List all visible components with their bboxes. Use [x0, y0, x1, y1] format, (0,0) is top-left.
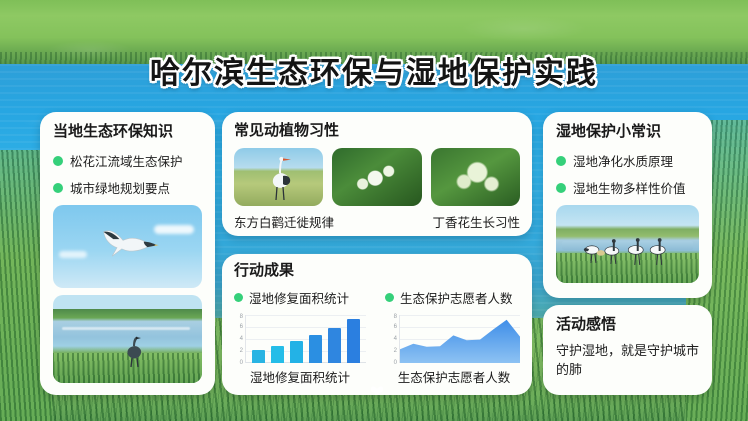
species-photo-row	[234, 148, 520, 206]
wading-bird-icon	[122, 334, 148, 368]
card-action-results: 行动成果 湿地修复面积统计 生态保护志愿者人数 0 2 4 6	[222, 254, 532, 395]
stork-silhouette-icon	[264, 154, 298, 202]
card-wetland-tips-title-wrap: 湿地保护小常识	[556, 124, 699, 140]
card-action-results-title: 行动成果	[234, 263, 294, 278]
area-series	[400, 315, 520, 363]
stork-photo	[234, 148, 323, 206]
bar	[290, 341, 303, 363]
lilac-photo	[431, 148, 520, 206]
area-chart-plot: 0 2 4 6 8	[388, 315, 520, 363]
flying-crane-photo	[53, 205, 202, 288]
chart-legend-row: 湿地修复面积统计 生态保护志愿者人数	[234, 288, 520, 307]
card-reflection-title-wrap: 活动感悟	[556, 317, 699, 333]
bar	[347, 319, 360, 363]
bar	[252, 350, 265, 363]
bar-chart-y-axis: 0 2 4 6 8	[234, 315, 245, 363]
reflection-text: 守护湿地，就是守护城市的肺	[556, 342, 699, 380]
bow-decoration-icon	[368, 384, 386, 395]
area-chart-y-axis: 0 2 4 6 8	[388, 315, 399, 363]
bullet-dot-icon	[556, 156, 566, 166]
wetland-pond-photo	[53, 295, 202, 383]
card-wetland-tips: 湿地保护小常识 湿地净化水质原理 湿地生物多样性价值	[543, 112, 712, 298]
caption-stork: 东方白鹳迁徙规律	[234, 212, 334, 231]
y-tick: 6	[394, 324, 397, 330]
water-highlight	[62, 327, 190, 330]
list-item: 松花江流域生态保护	[53, 151, 202, 170]
area-chart-x-label: 生态保护志愿者人数	[388, 367, 520, 386]
bullet-dot-icon	[53, 183, 63, 193]
legend-dot-icon	[385, 293, 394, 302]
y-tick: 2	[240, 348, 243, 354]
bar-series	[246, 315, 366, 363]
species-caption-row: 东方白鹳迁徙规律 丁香花生长习性	[234, 212, 520, 231]
bar-chart-plot: 0 2 4 6 8	[234, 315, 366, 363]
y-tick: 8	[394, 314, 397, 320]
bullet-label: 松花江流域生态保护	[70, 151, 183, 170]
wetland-tips-bullet-list: 湿地净化水质原理 湿地生物多样性价值	[556, 151, 699, 197]
bar	[309, 335, 322, 363]
charts-row: 0 2 4 6 8 湿地修复面积统计	[234, 315, 520, 386]
card-action-results-title-wrap: 行动成果	[234, 263, 520, 279]
card-species-habits-title: 常见动植物习性	[234, 123, 339, 138]
poster-canvas: 哈尔滨生态环保与湿地保护实践 当地生态环保知识 松花江流域生态保护 城市绿地规划…	[0, 0, 748, 421]
y-tick: 4	[240, 336, 243, 342]
card-reflection-title: 活动感悟	[556, 317, 616, 332]
bar-chart-x-label: 湿地修复面积统计	[234, 367, 366, 386]
card-local-knowledge-title-wrap: 当地生态环保知识	[53, 124, 202, 140]
bullet-label: 城市绿地规划要点	[70, 178, 170, 197]
y-tick: 0	[394, 360, 397, 366]
card-local-knowledge: 当地生态环保知识 松花江流域生态保护 城市绿地规划要点	[40, 112, 215, 395]
bar	[328, 328, 341, 363]
bullet-dot-icon	[53, 156, 63, 166]
bullet-label: 湿地净化水质原理	[573, 151, 673, 170]
legend-label: 生态保护志愿者人数	[400, 288, 513, 307]
card-local-knowledge-title: 当地生态环保知识	[53, 124, 173, 139]
card-species-habits-title-wrap: 常见动植物习性	[234, 123, 520, 139]
legend-area-chart: 生态保护志愿者人数	[385, 288, 513, 307]
area-chart: 0 2 4 6 8	[388, 315, 520, 386]
y-tick: 8	[240, 314, 243, 320]
local-knowledge-bullet-list: 松花江流域生态保护 城市绿地规划要点	[53, 151, 202, 197]
bullet-label: 湿地生物多样性价值	[573, 178, 686, 197]
bar-chart-plot-area	[245, 315, 366, 363]
list-item: 湿地生物多样性价值	[556, 178, 699, 197]
bar	[271, 346, 284, 363]
y-tick: 2	[394, 348, 397, 354]
bar-chart: 0 2 4 6 8 湿地修复面积统计	[234, 315, 366, 386]
white-flower-photo	[332, 148, 421, 206]
cranes-wetland-photo	[556, 205, 699, 283]
y-tick: 4	[394, 336, 397, 342]
crane-group-icon	[562, 236, 694, 272]
bullet-dot-icon	[556, 183, 566, 193]
legend-dot-icon	[234, 293, 243, 302]
y-tick: 0	[240, 360, 243, 366]
legend-bar-chart: 湿地修复面积统计	[234, 288, 349, 307]
page-title: 哈尔滨生态环保与湿地保护实践	[0, 48, 748, 92]
list-item: 城市绿地规划要点	[53, 178, 202, 197]
card-reflection: 活动感悟 守护湿地，就是守护城市的肺	[543, 305, 712, 395]
card-wetland-tips-title: 湿地保护小常识	[556, 124, 661, 139]
crane-silhouette-icon	[77, 227, 181, 264]
y-tick: 6	[240, 324, 243, 330]
list-item: 湿地净化水质原理	[556, 151, 699, 170]
area-chart-plot-area	[399, 315, 520, 363]
caption-lilac: 丁香花生长习性	[432, 212, 520, 231]
legend-label: 湿地修复面积统计	[249, 288, 349, 307]
card-species-habits: 常见动植物习性 东方白鹳迁徙规律 丁香花生长习性	[222, 112, 532, 236]
